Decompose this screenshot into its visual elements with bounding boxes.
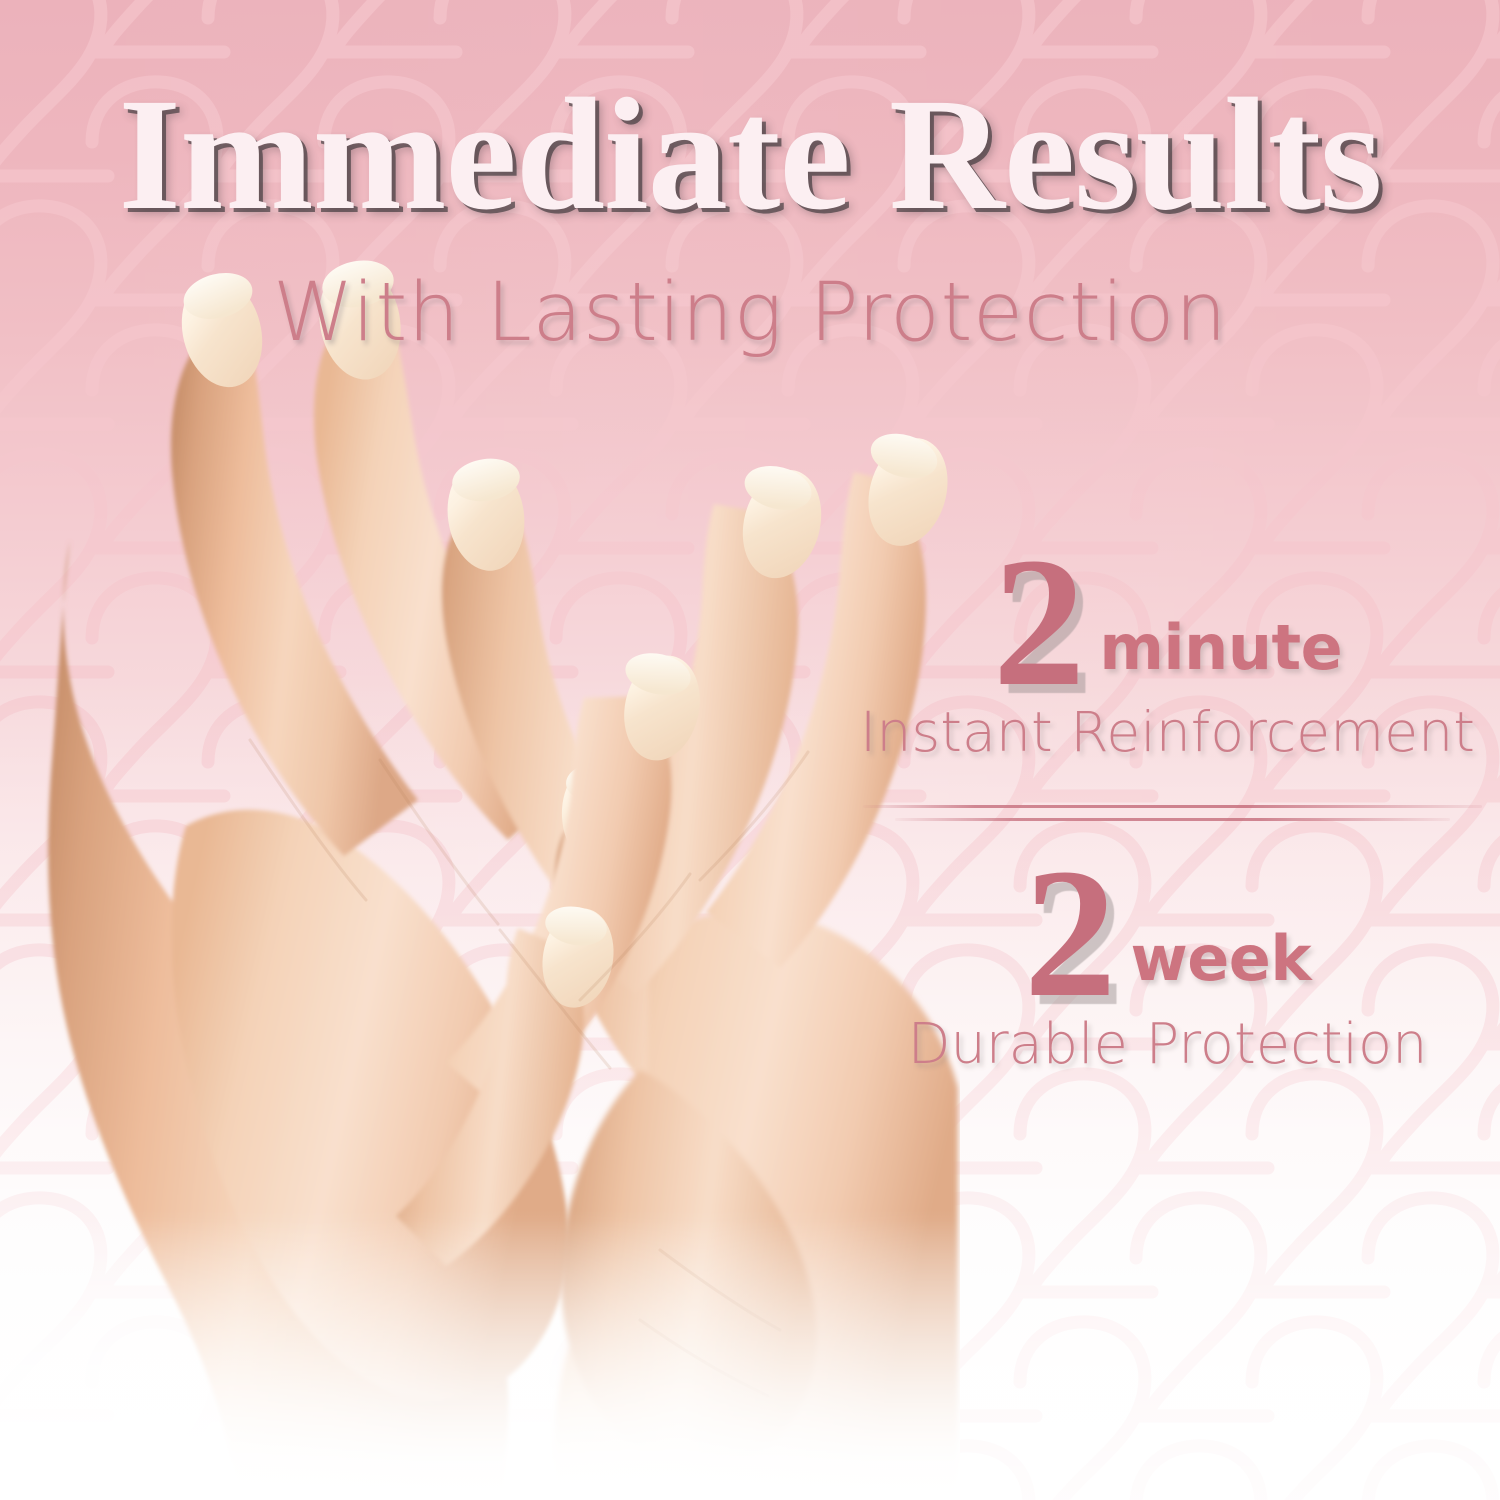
stat-description: Instant Reinforcement [845,703,1490,764]
page-title: Immediate Results [0,74,1500,235]
stat-number: 2 [1024,862,1117,1006]
stat-divider [845,774,1490,852]
stat-number: 2 [993,551,1086,695]
divider-line-bottom [895,818,1450,821]
stat-block-week: 2 week Durable Protection [845,856,1490,1075]
product-marketing-poster: Immediate Results With Lasting Protectio… [0,0,1500,1500]
stat-headline-row: 2 week [845,856,1490,1006]
stat-headline-row: 2 minute [845,545,1490,695]
stat-block-minute: 2 minute Instant Reinforcement [845,545,1490,764]
page-subtitle: With Lasting Protection [0,272,1500,354]
benefit-stats: 2 minute Instant Reinforcement 2 week Du… [845,545,1490,1075]
stat-unit: minute [1099,617,1342,695]
stat-unit: week [1130,928,1311,1006]
divider-line-top [863,805,1482,808]
stat-description: Durable Protection [845,1014,1490,1075]
